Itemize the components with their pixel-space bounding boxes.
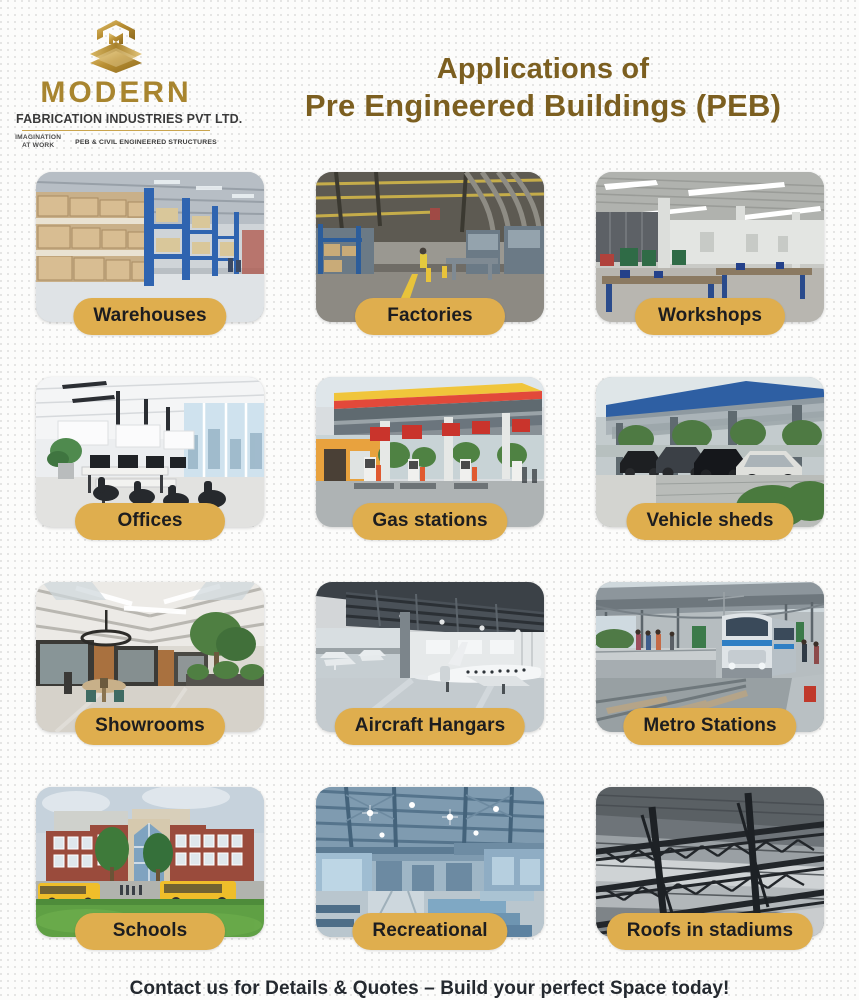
application-card-label[interactable]: Factories — [355, 298, 505, 335]
page-title: Applications of Pre Engineered Buildings… — [238, 52, 848, 125]
application-card[interactable]: Schools — [22, 781, 278, 986]
brand-tagline-left-line2: AT WORK — [15, 142, 61, 150]
application-card-label[interactable]: Aircraft Hangars — [335, 708, 525, 745]
poster-header: MODERN FABRICATION INDUSTRIES PVT LTD. I… — [0, 0, 859, 160]
brand-subtitle: FABRICATION INDUSTRIES PVT LTD. — [16, 112, 216, 126]
application-card-label[interactable]: Offices — [75, 503, 225, 540]
application-card-label[interactable]: Showrooms — [75, 708, 225, 745]
application-card-label[interactable]: Metro Stations — [623, 708, 796, 745]
application-card[interactable]: Workshops — [582, 166, 838, 371]
page-title-line1: Applications of — [238, 52, 848, 87]
application-card-label[interactable]: Workshops — [635, 298, 785, 335]
poster-canvas: MODERN FABRICATION INDUSTRIES PVT LTD. I… — [0, 0, 859, 1000]
application-card[interactable]: Factories — [302, 166, 558, 371]
application-card-label[interactable]: Recreational — [352, 913, 507, 950]
company-logo-block: MODERN FABRICATION INDUSTRIES PVT LTD. I… — [16, 18, 216, 150]
application-card[interactable]: Offices — [22, 371, 278, 576]
application-card-label[interactable]: Roofs in stadiums — [607, 913, 813, 950]
stacked-chevron-building-logo-icon — [85, 18, 147, 74]
application-card[interactable]: Roofs in stadiums — [582, 781, 838, 986]
application-card-grid: Warehouses — [22, 166, 838, 986]
brand-tagline-right: PEB & CIVIL ENGINEERED STRUCTURES — [75, 139, 217, 146]
application-card[interactable]: Recreational — [302, 781, 558, 986]
application-card[interactable]: Gas stations — [302, 371, 558, 576]
brand-name: MODERN — [16, 78, 216, 108]
application-card[interactable]: Aircraft Hangars — [302, 576, 558, 781]
application-card-label[interactable]: Gas stations — [352, 503, 507, 540]
application-card[interactable]: Vehicle sheds — [582, 371, 838, 576]
application-card-label[interactable]: Schools — [75, 913, 225, 950]
brand-tagline-row: IMAGINATION AT WORK PEB & CIVIL ENGINEER… — [16, 134, 216, 150]
brand-tagline-left-line1: IMAGINATION — [15, 134, 61, 142]
page-title-line2: Pre Engineered Buildings (PEB) — [238, 87, 848, 125]
application-card-label[interactable]: Vehicle sheds — [627, 503, 794, 540]
application-card[interactable]: Warehouses — [22, 166, 278, 371]
application-card-label[interactable]: Warehouses — [73, 298, 226, 335]
brand-divider — [22, 130, 210, 131]
application-card[interactable]: Showrooms — [22, 576, 278, 781]
footer-cta: Contact us for Details & Quotes – Build … — [0, 978, 859, 1000]
application-card[interactable]: Metro Stations — [582, 576, 838, 781]
brand-tagline-left: IMAGINATION AT WORK — [15, 134, 61, 150]
